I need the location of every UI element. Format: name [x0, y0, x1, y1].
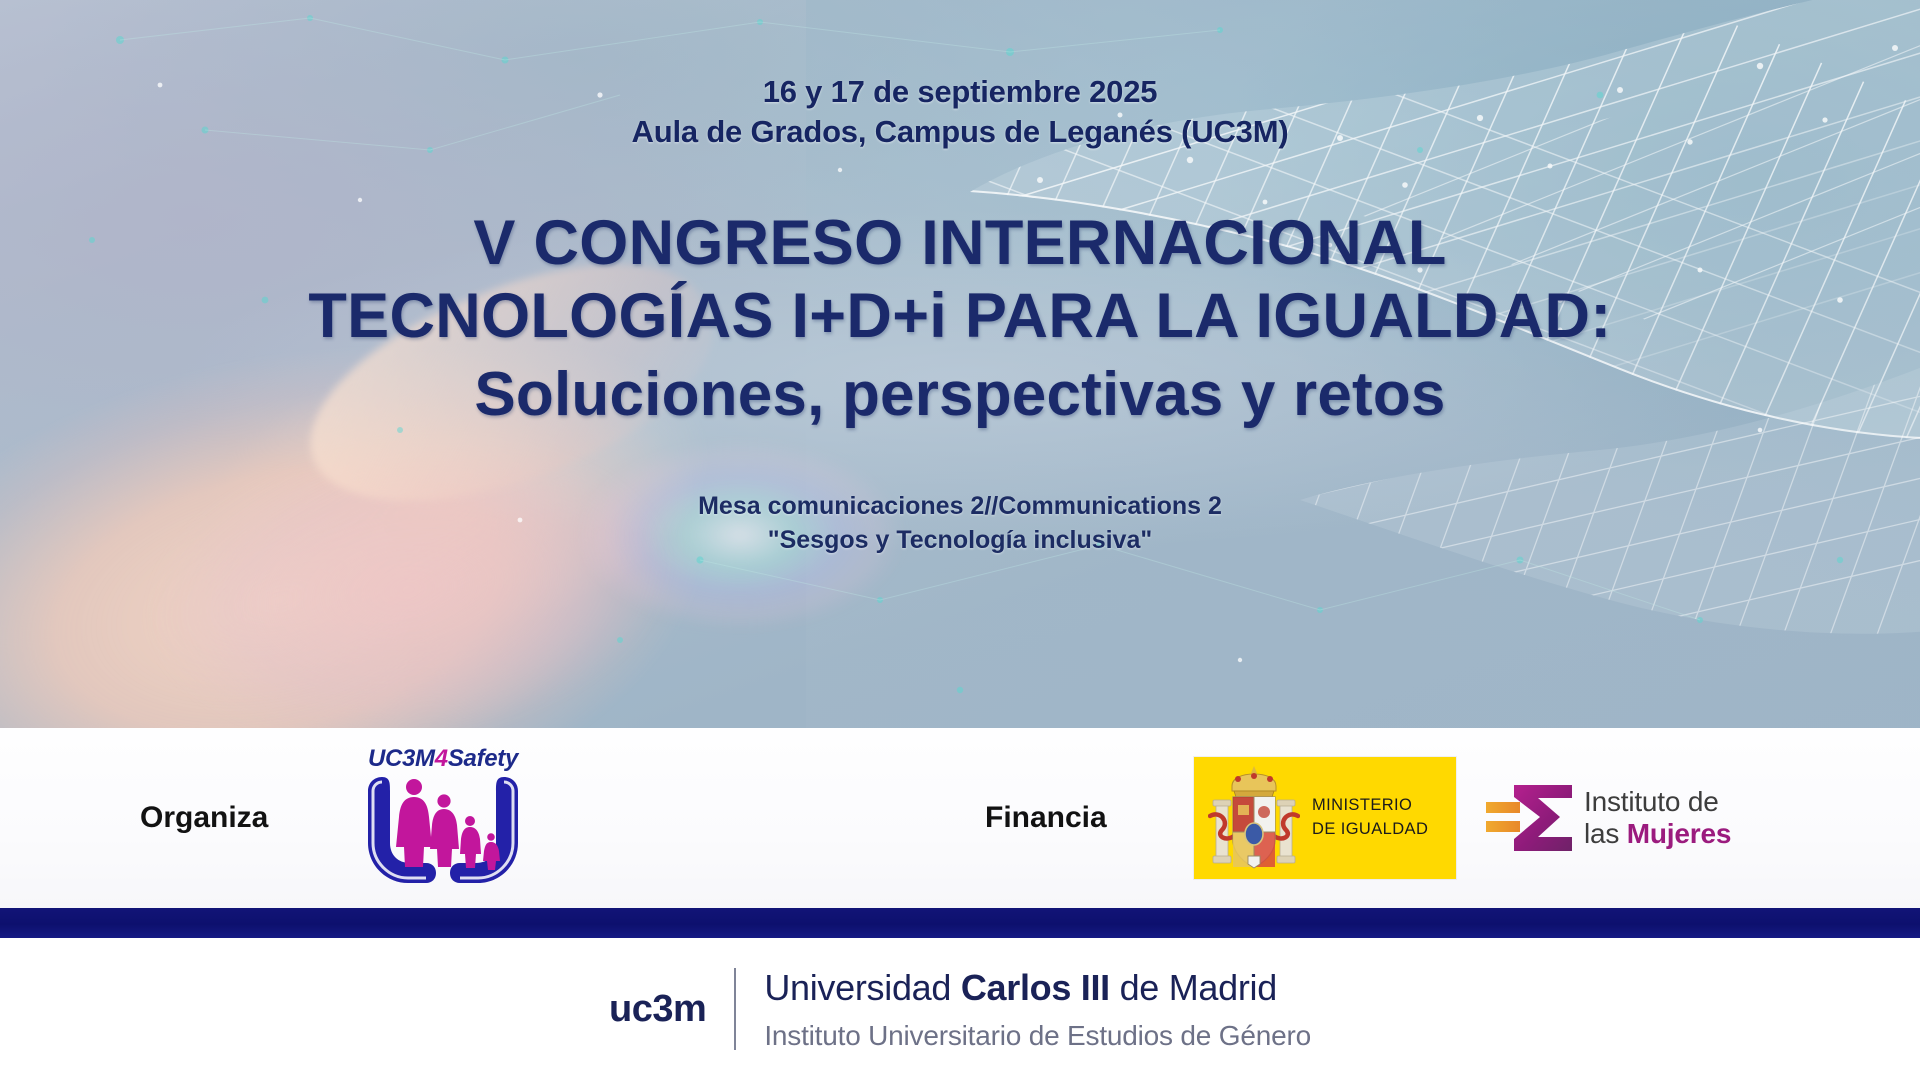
congress-title: V CONGRESO INTERNACIONAL TECNOLOGÍAS I+D…	[308, 207, 1611, 431]
congress-title-line-2: TECNOLOGÍAS I+D+i PARA LA IGUALDAD:	[308, 280, 1611, 353]
instituto-line-2-bold: Mujeres	[1627, 818, 1731, 849]
spanish-coat-of-arms-icon	[1208, 764, 1300, 872]
ministerio-wordmark: MINISTERIO DE IGUALDAD	[1312, 794, 1428, 842]
uc3m4safety-accent: 4	[435, 745, 448, 772]
ministerio-line-1: MINISTERIO	[1312, 794, 1428, 818]
ministerio-de-igualdad-logo: MINISTERIO DE IGUALDAD	[1194, 757, 1456, 879]
uc3m-mark: uc3m	[609, 988, 734, 1031]
university-name-bold: Carlos III	[961, 967, 1110, 1008]
equals-sigma-icon	[1484, 779, 1576, 857]
poster-slide: 16 y 17 de septiembre 2025 Aula de Grado…	[0, 0, 1920, 1080]
session-block: Mesa comunicaciones 2//Communications 2 …	[698, 489, 1222, 557]
instituto-wordmark: Instituto de las Mujeres	[1584, 786, 1731, 851]
hero-text-block: 16 y 17 de septiembre 2025 Aula de Grado…	[0, 0, 1920, 728]
session-name: Mesa comunicaciones 2//Communications 2	[698, 489, 1222, 523]
instituto-line-1: Instituto de	[1584, 786, 1731, 818]
footer-band: uc3m Universidad Carlos III de Madrid In…	[0, 938, 1920, 1080]
university-name: Universidad Carlos III de Madrid	[764, 966, 1311, 1009]
uc3m4safety-prefix: UC3M	[368, 745, 435, 772]
uc3m4safety-suffix: Safety	[448, 745, 518, 772]
institute-name: Instituto Universitario de Estudios de G…	[764, 1019, 1311, 1053]
navy-divider-bar	[0, 908, 1920, 938]
instituto-line-2: las Mujeres	[1584, 818, 1731, 850]
uc3m-name-block: Universidad Carlos III de Madrid Institu…	[736, 966, 1311, 1053]
hero-background: 16 y 17 de septiembre 2025 Aula de Grado…	[0, 0, 1920, 728]
session-topic: "Sesgos y Tecnología inclusiva"	[698, 523, 1222, 557]
university-name-part-1: Universidad	[764, 967, 961, 1008]
cradling-hands-family-icon	[352, 769, 534, 891]
university-name-part-2: de Madrid	[1110, 967, 1277, 1008]
congress-title-line-1: V CONGRESO INTERNACIONAL	[308, 207, 1611, 280]
instituto-line-2-light: las	[1584, 818, 1627, 849]
instituto-de-las-mujeres-logo: Instituto de las Mujeres	[1484, 774, 1754, 862]
sponsor-band: Organiza UC3M4Safety	[0, 728, 1920, 908]
event-date: 16 y 17 de septiembre 2025	[632, 72, 1289, 112]
ministerio-line-2: DE IGUALDAD	[1312, 818, 1428, 842]
event-date-block: 16 y 17 de septiembre 2025 Aula de Grado…	[632, 72, 1289, 153]
uc3m4safety-logo: UC3M4Safety	[352, 743, 534, 893]
uc3m-logo-lockup: uc3m Universidad Carlos III de Madrid In…	[609, 966, 1311, 1053]
organiza-label: Organiza	[140, 801, 268, 835]
event-venue: Aula de Grados, Campus de Leganés (UC3M)	[632, 112, 1289, 152]
financia-label: Financia	[985, 801, 1107, 835]
congress-title-line-3: Soluciones, perspectivas y retos	[308, 359, 1611, 431]
